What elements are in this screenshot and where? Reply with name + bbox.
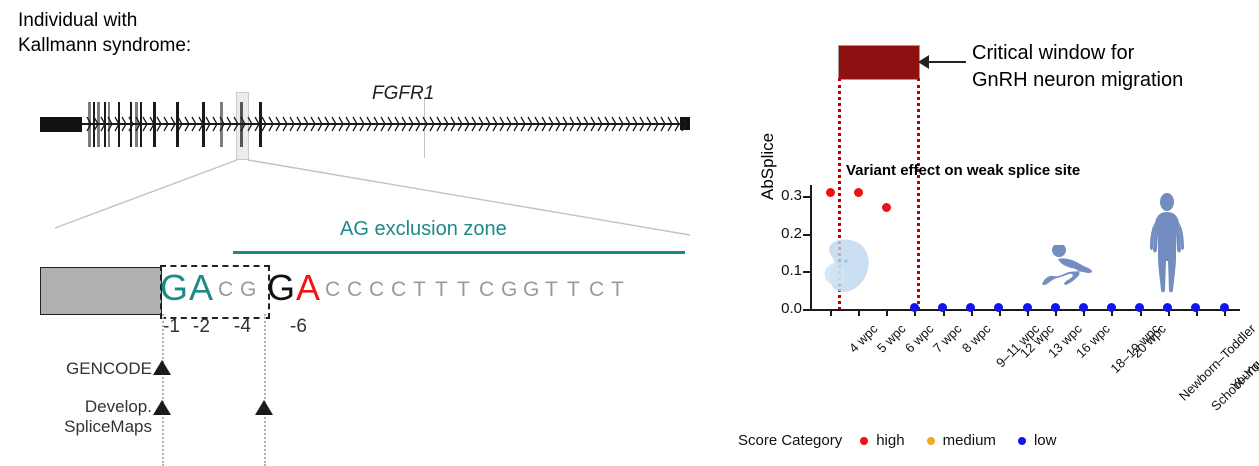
position-guide-line [162, 314, 164, 466]
y-tick-label: 0.3 [764, 187, 802, 204]
x-tick-label: 5 wpc [874, 321, 909, 356]
legend-swatch-high [860, 437, 868, 445]
data-point[interactable] [826, 188, 835, 197]
x-tick-label: 4 wpc [846, 321, 881, 356]
infant-silhouette-icon [1041, 245, 1093, 287]
nucleotide-t: T [435, 262, 448, 318]
position-label: -2 [193, 316, 210, 338]
track-label-developmental-splicemaps-line2: SpliceMaps [20, 417, 152, 437]
x-tick-label: 6 wpc [902, 321, 937, 356]
nucleotide-c: C [589, 262, 604, 318]
x-tick [886, 309, 888, 316]
annotation-arrow-icon [918, 55, 929, 69]
ag-exclusion-zone-label: AG exclusion zone [340, 218, 507, 241]
legend-item-medium[interactable]: medium [927, 432, 996, 449]
caption-line-2: Kallmann syndrome: [18, 33, 191, 58]
adult-silhouette-icon [1147, 193, 1187, 297]
nucleotide-c: C [369, 262, 384, 318]
x-tick [858, 309, 860, 316]
y-tick [803, 271, 810, 273]
position-guide-line [264, 314, 266, 466]
data-point[interactable] [966, 303, 975, 312]
nucleotide-c: C [347, 262, 362, 318]
data-point[interactable] [1135, 303, 1144, 312]
caption-line-1: Individual with [18, 8, 191, 33]
y-tick-label: 0.2 [764, 225, 802, 242]
intron-chevron-icon [681, 116, 688, 132]
data-point[interactable] [994, 303, 1003, 312]
y-tick-label: 0.0 [764, 300, 802, 317]
legend-swatch-low [1018, 437, 1026, 445]
legend-item-high[interactable]: high [860, 432, 904, 449]
nucleotide-t: T [413, 262, 426, 318]
legend-label: medium [943, 432, 996, 449]
gencode-splice-site-marker [153, 360, 171, 375]
nucleotide-a: A [189, 262, 213, 314]
position-label: -6 [290, 316, 307, 338]
nucleotide-g: G [501, 262, 517, 318]
legend-swatch-medium [927, 437, 935, 445]
x-tick-label: 8 wpc [959, 321, 994, 356]
y-tick-label: 0.1 [764, 262, 802, 279]
nucleotide-a: A [296, 262, 320, 314]
y-axis [810, 185, 812, 311]
absplice-chart-panel: Critical window for GnRH neuron migratio… [760, 0, 1259, 466]
splicemap-splice-site-marker [153, 400, 171, 415]
nucleotide-t: T [457, 262, 470, 318]
legend-title: Score Category [738, 432, 842, 449]
gene-label: FGFR1 [372, 83, 434, 105]
legend-label: high [876, 432, 904, 449]
data-point[interactable] [938, 303, 947, 312]
legend-item-low[interactable]: low [1018, 432, 1057, 449]
position-label: -1 [163, 316, 180, 338]
exon-block [40, 267, 162, 315]
data-point[interactable] [1163, 303, 1172, 312]
nucleotide-c: C [479, 262, 494, 318]
nucleotide-t: T [567, 262, 580, 318]
nucleotide-g: G [160, 262, 188, 314]
critical-window-annotation: Critical window for GnRH neuron migratio… [972, 40, 1183, 94]
gene-5prime-utr [40, 117, 82, 132]
data-point[interactable] [1191, 303, 1200, 312]
data-point[interactable] [910, 303, 919, 312]
y-tick [803, 196, 810, 198]
data-point[interactable] [854, 188, 863, 197]
position-label: -4 [234, 316, 251, 338]
embryo-silhouette-icon [820, 237, 872, 299]
gene-schematic-panel: Individual with Kallmann syndrome: FGFR1… [0, 0, 760, 466]
chart-title: Variant effect on weak splice site [846, 162, 1080, 179]
scatter-plot: 0.00.10.20.3 4 wpc5 wpc6 wpc7 wpc8 wpc9–… [810, 185, 1240, 310]
intron-line [82, 123, 682, 125]
ag-exclusion-zone-line [233, 251, 685, 254]
data-point[interactable] [882, 203, 891, 212]
nucleotide-c: C [218, 262, 233, 318]
nucleotide-g: G [240, 262, 256, 318]
nucleotide-c: C [325, 262, 340, 318]
nucleotide-g: G [267, 262, 295, 314]
legend-label: low [1034, 432, 1057, 449]
data-point[interactable] [1023, 303, 1032, 312]
nucleotide-g: G [523, 262, 539, 318]
data-point[interactable] [1079, 303, 1088, 312]
individual-caption: Individual with Kallmann syndrome: [18, 8, 191, 58]
splicemap-splice-site-marker [255, 400, 273, 415]
data-point[interactable] [1051, 303, 1060, 312]
gene-model [40, 95, 690, 155]
track-label-developmental-splicemaps-line1: Develop. [20, 397, 152, 417]
x-tick-label: 7 wpc [930, 321, 965, 356]
annotation-line-2: GnRH neuron migration [972, 67, 1183, 94]
y-tick [803, 309, 810, 311]
nucleotide-t: T [545, 262, 558, 318]
track-label-gencode: GENCODE [20, 359, 152, 379]
data-point[interactable] [1107, 303, 1116, 312]
annotation-line-1: Critical window for [972, 40, 1183, 67]
nucleotide-t: T [611, 262, 624, 318]
x-tick [830, 309, 832, 316]
y-tick [803, 234, 810, 236]
chart-legend: Score Category highmediumlow [738, 432, 1078, 449]
nucleotide-c: C [391, 262, 406, 318]
critical-window-box [838, 45, 920, 80]
data-point[interactable] [1220, 303, 1229, 312]
